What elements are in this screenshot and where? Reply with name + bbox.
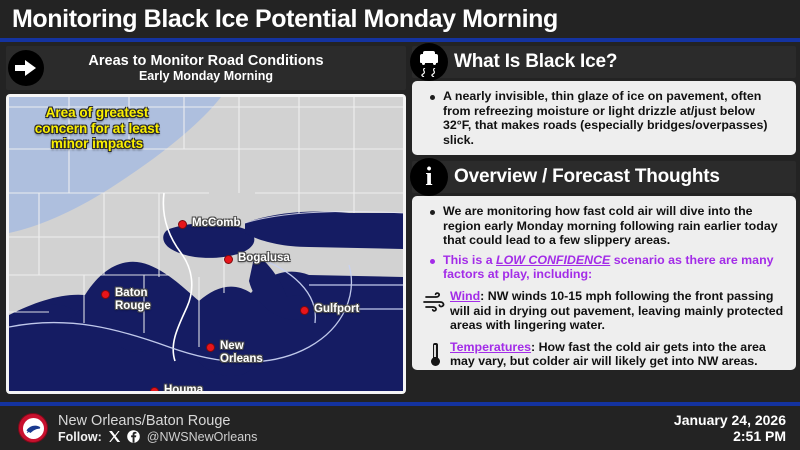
overview-title: Overview / Forecast Thoughts [412,166,720,188]
map-banner: Areas to Monitor Road Conditions Early M… [6,46,406,90]
factor-temperatures: Temperatures: How fast the cold air gets… [420,340,786,369]
city-dot-icon [101,290,110,299]
city-label: Baton Rouge [115,287,151,312]
bullet2-pre: This is a [443,253,496,267]
map-panel: Areas to Monitor Road Conditions Early M… [6,46,406,396]
x-twitter-icon[interactable] [108,430,121,443]
follow-label: Follow: [58,430,102,444]
issue-date: January 24, 2026 [674,412,786,428]
factor-temperatures-keyword: Temperatures [450,340,531,354]
overview-bullet-1: We are monitoring how fast cold air will… [443,204,786,248]
city-dot-icon [150,387,159,391]
black-ice-section-header: What Is Black Ice? [412,46,796,78]
list-item: This is a LOW CONFIDENCE scenario as the… [420,253,786,282]
office-name: New Orleans/Baton Rouge [58,413,257,429]
map-banner-line2: Early Monday Morning [139,69,273,83]
factor-temperatures-text: Temperatures: How fast the cold air gets… [450,340,786,369]
city-label: Gulfport [314,303,359,316]
low-confidence-emphasis: LOW CONFIDENCE [496,253,610,267]
map-canvas[interactable]: Area of greatest concern for at least mi… [9,97,403,391]
overview-section-header: i Overview / Forecast Thoughts [412,161,796,193]
list-item: We are monitoring how fast cold air will… [420,204,786,248]
overview-panel: We are monitoring how fast cold air will… [412,196,796,370]
page-title: Monitoring Black Ice Potential Monday Mo… [0,5,558,34]
city-dot-icon [178,220,187,229]
factor-wind-keyword: Wind [450,289,480,303]
wind-icon [420,289,450,312]
city-dot-icon [224,255,233,264]
car-skidding-icon [410,43,448,81]
map-banner-line1: Areas to Monitor Road Conditions [88,53,323,69]
black-ice-text: A nearly invisible, thin glaze of ice on… [443,89,786,147]
issue-time: 2:51 PM [674,428,786,444]
facebook-icon[interactable] [127,430,140,443]
bullet-icon [430,210,435,215]
social-handle[interactable]: @NWSNewOrleans [147,430,258,444]
footer-texts: New Orleans/Baton Rouge Follow: [58,413,257,444]
bullet-icon [430,95,435,100]
city-marker-bogalusa[interactable]: Bogalusa [224,252,290,265]
header-bar: Monitoring Black Ice Potential Monday Mo… [0,0,800,38]
factor-wind-body: : NW winds 10-15 mph following the front… [450,289,783,332]
footer-left: New Orleans/Baton Rouge Follow: [18,413,257,444]
info-column: What Is Black Ice? A nearly invisible, t… [412,46,796,396]
city-dot-icon [300,306,309,315]
follow-row: Follow: @NWSNewOrleans [58,430,257,444]
factor-wind-text: Wind: NW winds 10-15 mph following the f… [450,289,786,333]
weather-graphic: Monitoring Black Ice Potential Monday Mo… [0,0,800,450]
city-marker-houma[interactable]: Houma [150,384,203,391]
list-item: A nearly invisible, thin glaze of ice on… [420,89,786,147]
info-icon: i [410,158,448,196]
city-marker-new-orleans[interactable]: New Orleans [206,340,263,365]
city-marker-gulfport[interactable]: Gulfport [300,303,359,316]
factor-wind: Wind: NW winds 10-15 mph following the f… [420,289,786,333]
footer-bar: New Orleans/Baton Rouge Follow: [0,406,800,450]
map-frame: Area of greatest concern for at least mi… [6,94,406,394]
header-divider [0,38,800,42]
arrow-right-icon [8,50,44,86]
city-label: New Orleans [220,340,263,365]
thermometer-icon [420,340,450,368]
black-ice-panel: A nearly invisible, thin glaze of ice on… [412,81,796,155]
footer-right: January 24, 2026 2:51 PM [674,412,786,444]
city-label: Houma [164,384,203,391]
city-label: McComb [192,217,241,230]
bullet-icon [430,259,435,264]
city-marker-baton-rouge[interactable]: Baton Rouge [101,287,151,312]
city-label: Bogalusa [238,252,290,265]
city-dot-icon [206,343,215,352]
nws-seal-icon [18,413,48,443]
overview-bullet-2: This is a LOW CONFIDENCE scenario as the… [443,253,786,282]
city-marker-mccomb[interactable]: McComb [178,217,241,230]
